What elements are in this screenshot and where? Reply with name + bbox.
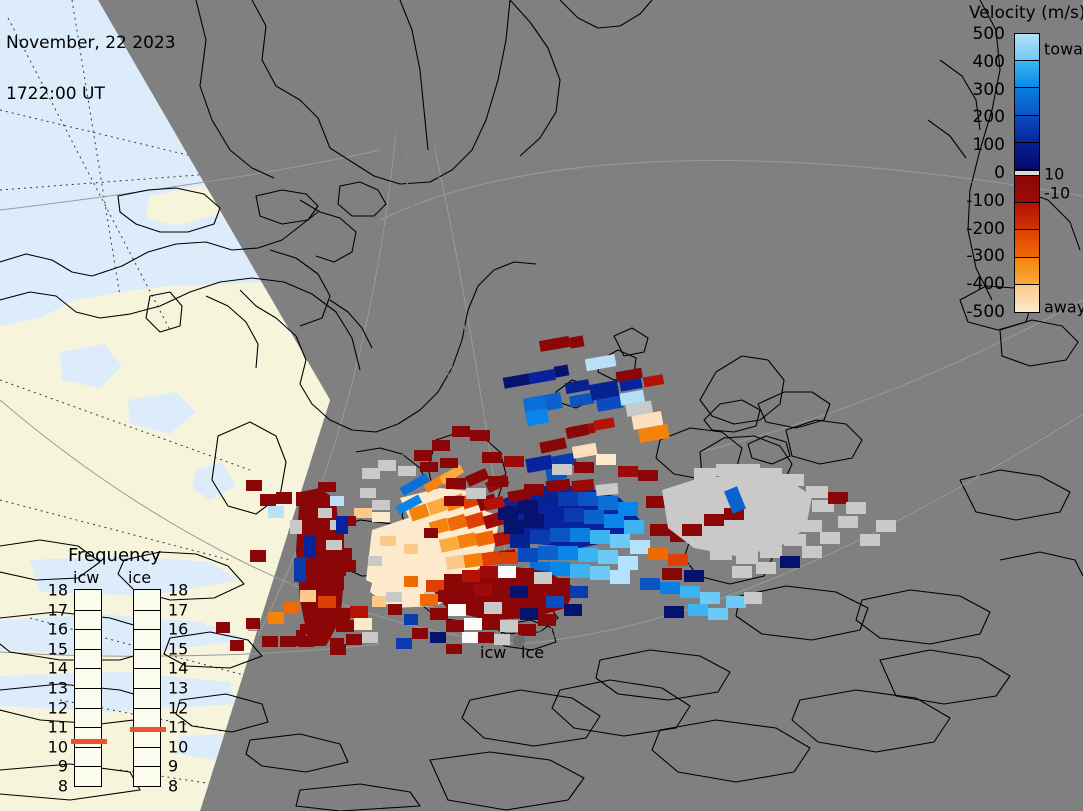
velocity-tick-label: -500 <box>966 302 1005 322</box>
frequency-tick-row <box>75 629 101 630</box>
frequency-tick-label-right: 18 <box>168 581 188 600</box>
frequency-tick-label-right: 10 <box>168 737 188 756</box>
velocity-negative-threshold-label: -10 <box>1044 184 1070 203</box>
frequency-tick-row <box>134 708 160 709</box>
frequency-tick-label-left: 9 <box>58 757 68 776</box>
frequency-tick-label-left: 11 <box>48 718 68 737</box>
frequency-value-marker <box>130 727 166 732</box>
velocity-toward-label: toward <box>1044 40 1083 59</box>
velocity-band <box>1015 285 1039 312</box>
frequency-tick-label-right: 13 <box>168 679 188 698</box>
frequency-legend-icw-label: icw <box>73 568 99 587</box>
map-label-ice: ice <box>521 643 544 662</box>
frequency-tick-row <box>75 649 101 650</box>
frequency-tick-label-right: 12 <box>168 698 188 717</box>
velocity-band <box>1015 143 1039 170</box>
velocity-tick-label: -300 <box>966 246 1005 266</box>
frequency-legend: Frequency icw ice 18171615141312111098 1… <box>48 540 198 790</box>
frequency-tick-row <box>75 688 101 689</box>
timestamp: November, 22 2023 1722:00 UT <box>6 1 176 137</box>
velocity-band <box>1015 203 1039 230</box>
velocity-colorbar-title: Velocity (m/s) <box>969 3 1083 23</box>
velocity-tick-label: 500 <box>973 24 1005 44</box>
frequency-tick-label-left: 18 <box>48 581 68 600</box>
timestamp-date: November, 22 2023 <box>6 35 176 52</box>
frequency-tick-label-right: 14 <box>168 659 188 678</box>
frequency-tick-row <box>75 668 101 669</box>
frequency-tick-row <box>134 668 160 669</box>
velocity-tick-label: -200 <box>966 219 1005 239</box>
frequency-tick-row <box>75 747 101 748</box>
velocity-band <box>1015 258 1039 285</box>
frequency-tick-label-left: 17 <box>48 600 68 619</box>
frequency-tick-label-right: 17 <box>168 600 188 619</box>
timestamp-time: 1722:00 UT <box>6 86 176 103</box>
radar-map-plot: November, 22 2023 1722:00 UT icw ice Vel… <box>0 0 1083 811</box>
frequency-tick-row <box>134 610 160 611</box>
frequency-legend-title: Frequency <box>68 545 161 566</box>
velocity-band <box>1015 88 1039 115</box>
frequency-tick-label-left: 10 <box>48 737 68 756</box>
velocity-away-label: away <box>1044 298 1083 317</box>
velocity-band <box>1015 116 1039 143</box>
frequency-value-marker <box>71 739 107 744</box>
frequency-tick-row <box>134 747 160 748</box>
velocity-band <box>1015 230 1039 257</box>
velocity-colorbar: Velocity (m/s) 5004003002001000-100-200-… <box>960 0 1083 340</box>
frequency-tick-label-right: 16 <box>168 620 188 639</box>
ground-scatter-patch <box>662 464 896 604</box>
velocity-cell-group <box>216 321 896 655</box>
velocity-positive-threshold-label: 10 <box>1044 165 1064 184</box>
frequency-tick-label-right: 9 <box>168 757 178 776</box>
velocity-tick-label: -400 <box>966 274 1005 294</box>
velocity-colorbar-bands <box>1014 33 1040 313</box>
velocity-tick-label: 200 <box>973 107 1005 127</box>
frequency-tick-row <box>134 688 160 689</box>
frequency-legend-ice-label: ice <box>128 568 151 587</box>
frequency-tick-row <box>75 727 101 728</box>
frequency-tick-row <box>134 629 160 630</box>
velocity-tick-label: -100 <box>966 191 1005 211</box>
frequency-tick-row <box>75 766 101 767</box>
frequency-tick-label-left: 14 <box>48 659 68 678</box>
frequency-tick-label-left: 12 <box>48 698 68 717</box>
velocity-band <box>1015 34 1039 61</box>
frequency-tick-label-left: 16 <box>48 620 68 639</box>
frequency-tick-label-left: 8 <box>58 777 68 796</box>
frequency-tick-row <box>134 766 160 767</box>
map-label-icw: icw <box>480 643 506 662</box>
frequency-tick-row <box>134 649 160 650</box>
frequency-tick-label-left: 15 <box>48 639 68 658</box>
near-range-arcs <box>372 566 588 654</box>
frequency-tick-row <box>75 708 101 709</box>
frequency-tick-label-right: 8 <box>168 777 178 796</box>
frequency-tick-row <box>75 610 101 611</box>
frequency-tick-label-right: 15 <box>168 639 188 658</box>
velocity-tick-label: 300 <box>973 80 1005 100</box>
velocity-tick-label: 0 <box>994 163 1005 183</box>
velocity-tick-label: 100 <box>973 135 1005 155</box>
frequency-tick-label-right: 11 <box>168 718 188 737</box>
frequency-bar-ice <box>133 589 161 787</box>
velocity-band <box>1015 176 1039 203</box>
velocity-band <box>1015 61 1039 88</box>
frequency-bar-icw <box>74 589 102 787</box>
frequency-tick-label-left: 13 <box>48 679 68 698</box>
velocity-tick-label: 400 <box>973 52 1005 72</box>
